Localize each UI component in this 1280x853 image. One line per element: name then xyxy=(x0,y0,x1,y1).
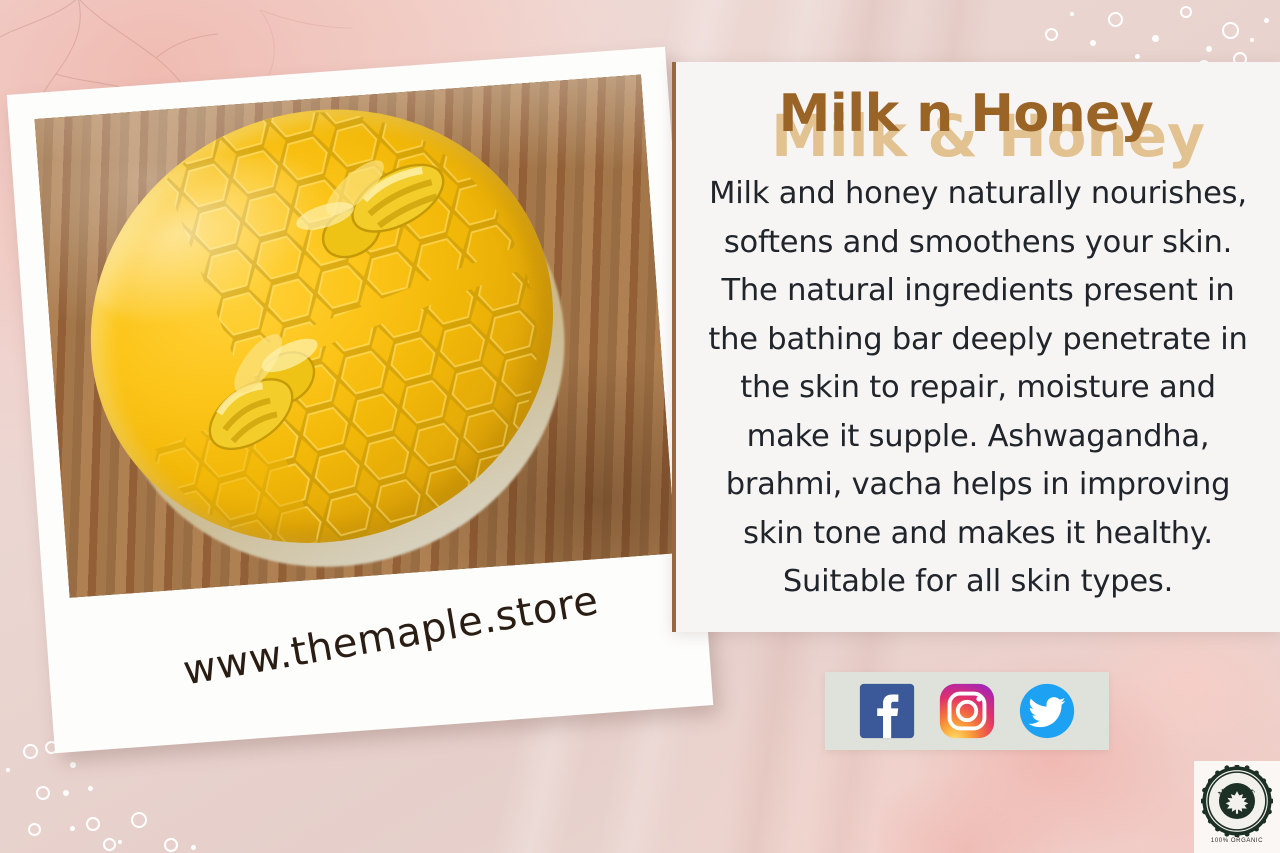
website-url-text: www.themaple.store xyxy=(180,578,602,695)
product-info-card: Milk & Honey Milk n Honey Milk and honey… xyxy=(672,62,1280,632)
social-links-bar xyxy=(825,672,1109,750)
product-title-block: Milk & Honey Milk n Honey xyxy=(676,80,1280,168)
logo-tagline: 100% ORGANIC xyxy=(1211,838,1263,844)
product-title: Milk n Honey xyxy=(672,84,1268,144)
product-photo xyxy=(35,75,677,598)
maple-badge-icon: MAPLE PURE SAFE ORGANIC SOAP xyxy=(1201,765,1273,837)
poster-canvas: www.themaple.store Milk & Honey Milk n H… xyxy=(0,0,1280,853)
facebook-icon[interactable] xyxy=(856,680,918,742)
maple-brand-logo: MAPLE PURE SAFE ORGANIC SOAP 100% ORGANI… xyxy=(1194,761,1280,853)
twitter-icon[interactable] xyxy=(1016,680,1078,742)
polaroid-photo-card: www.themaple.store xyxy=(7,47,714,754)
product-description: Milk and honey naturally nourishes, soft… xyxy=(698,170,1258,607)
instagram-icon[interactable] xyxy=(936,680,998,742)
